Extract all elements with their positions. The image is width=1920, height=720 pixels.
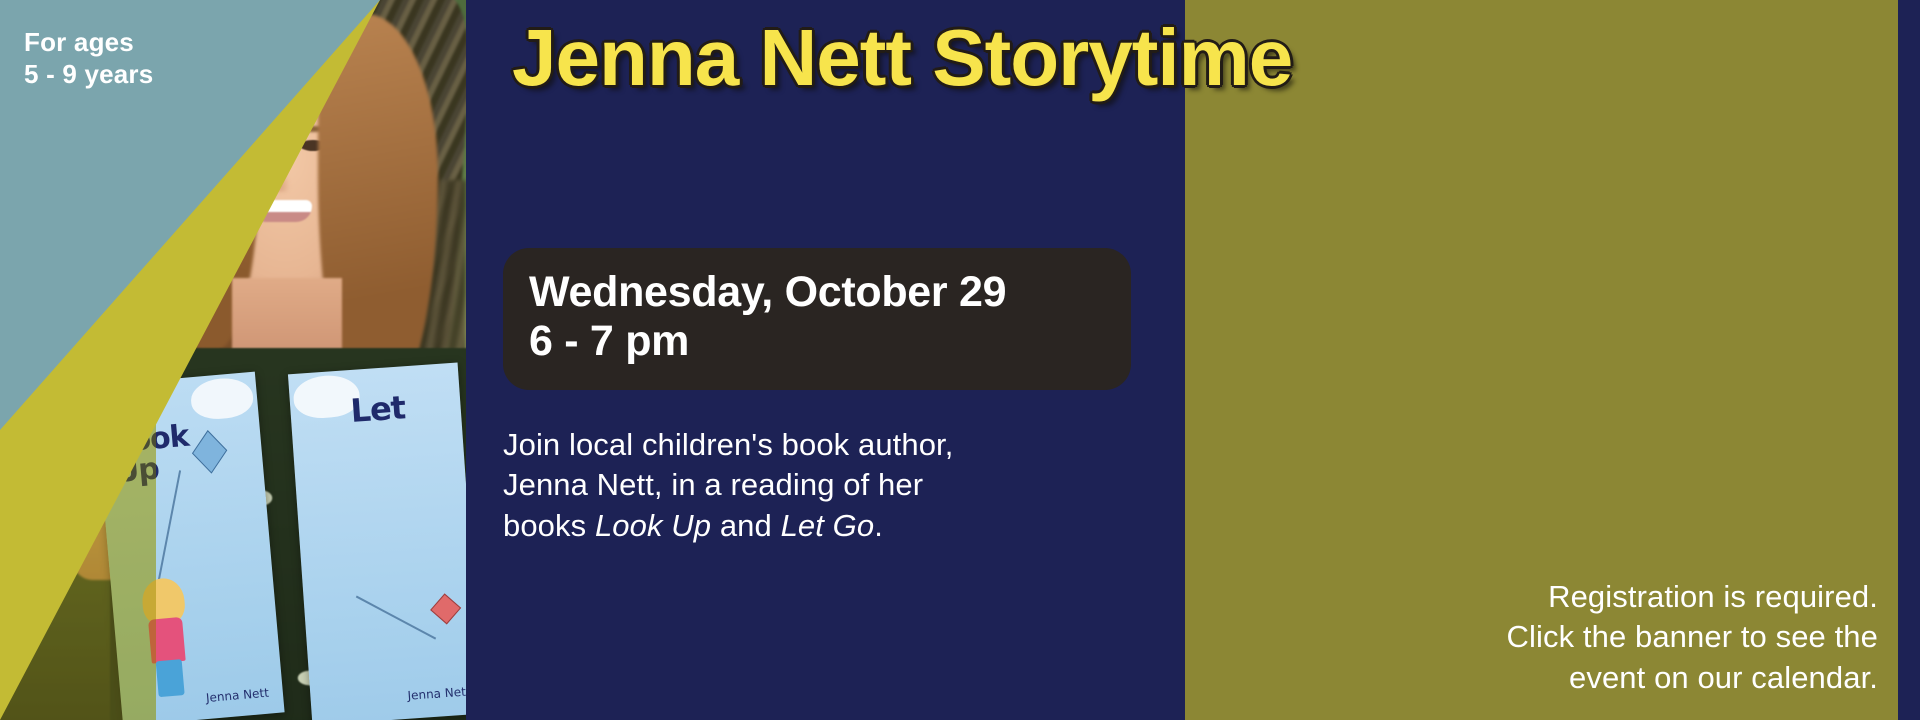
description-line-1: Join local children's book author, [503, 427, 953, 462]
kite-string [356, 596, 436, 640]
book-two-author: Jenna Nett [407, 684, 466, 702]
book-title-let-go: Let Go [781, 508, 875, 543]
navy-right-edge-strip [1898, 0, 1920, 720]
event-description: Join local children's book author, Jenna… [503, 425, 1143, 546]
kite-icon [192, 430, 227, 474]
description-conjunction: and [711, 508, 780, 543]
event-datetime-box: Wednesday, October 29 6 - 7 pm [503, 248, 1131, 390]
description-period: . [874, 508, 883, 543]
book-cloud-icon [189, 376, 254, 421]
book-child-legs [156, 659, 185, 697]
book-one-author: Jenna Nett [205, 686, 269, 705]
registration-note: Registration is required. Click the bann… [1258, 577, 1878, 698]
book-two-title: Let [349, 388, 406, 430]
book-cover-let-go: Let Jenna Nett [288, 362, 466, 720]
book-title-look-up: Look Up [595, 508, 711, 543]
event-date: Wednesday, October 29 [529, 268, 1105, 317]
kite-icon [430, 593, 461, 624]
description-line-2: Jenna Nett, in a reading of her [503, 467, 923, 502]
event-time: 6 - 7 pm [529, 317, 1105, 366]
page-title: Jenna Nett Storytime [512, 12, 1292, 104]
description-books-prefix: books [503, 508, 595, 543]
event-banner[interactable]: LookUp Jenna Nett Let Jenna Nett For age… [0, 0, 1920, 720]
kite-string [157, 470, 181, 586]
age-range-label: For ages 5 - 9 years [24, 26, 153, 90]
